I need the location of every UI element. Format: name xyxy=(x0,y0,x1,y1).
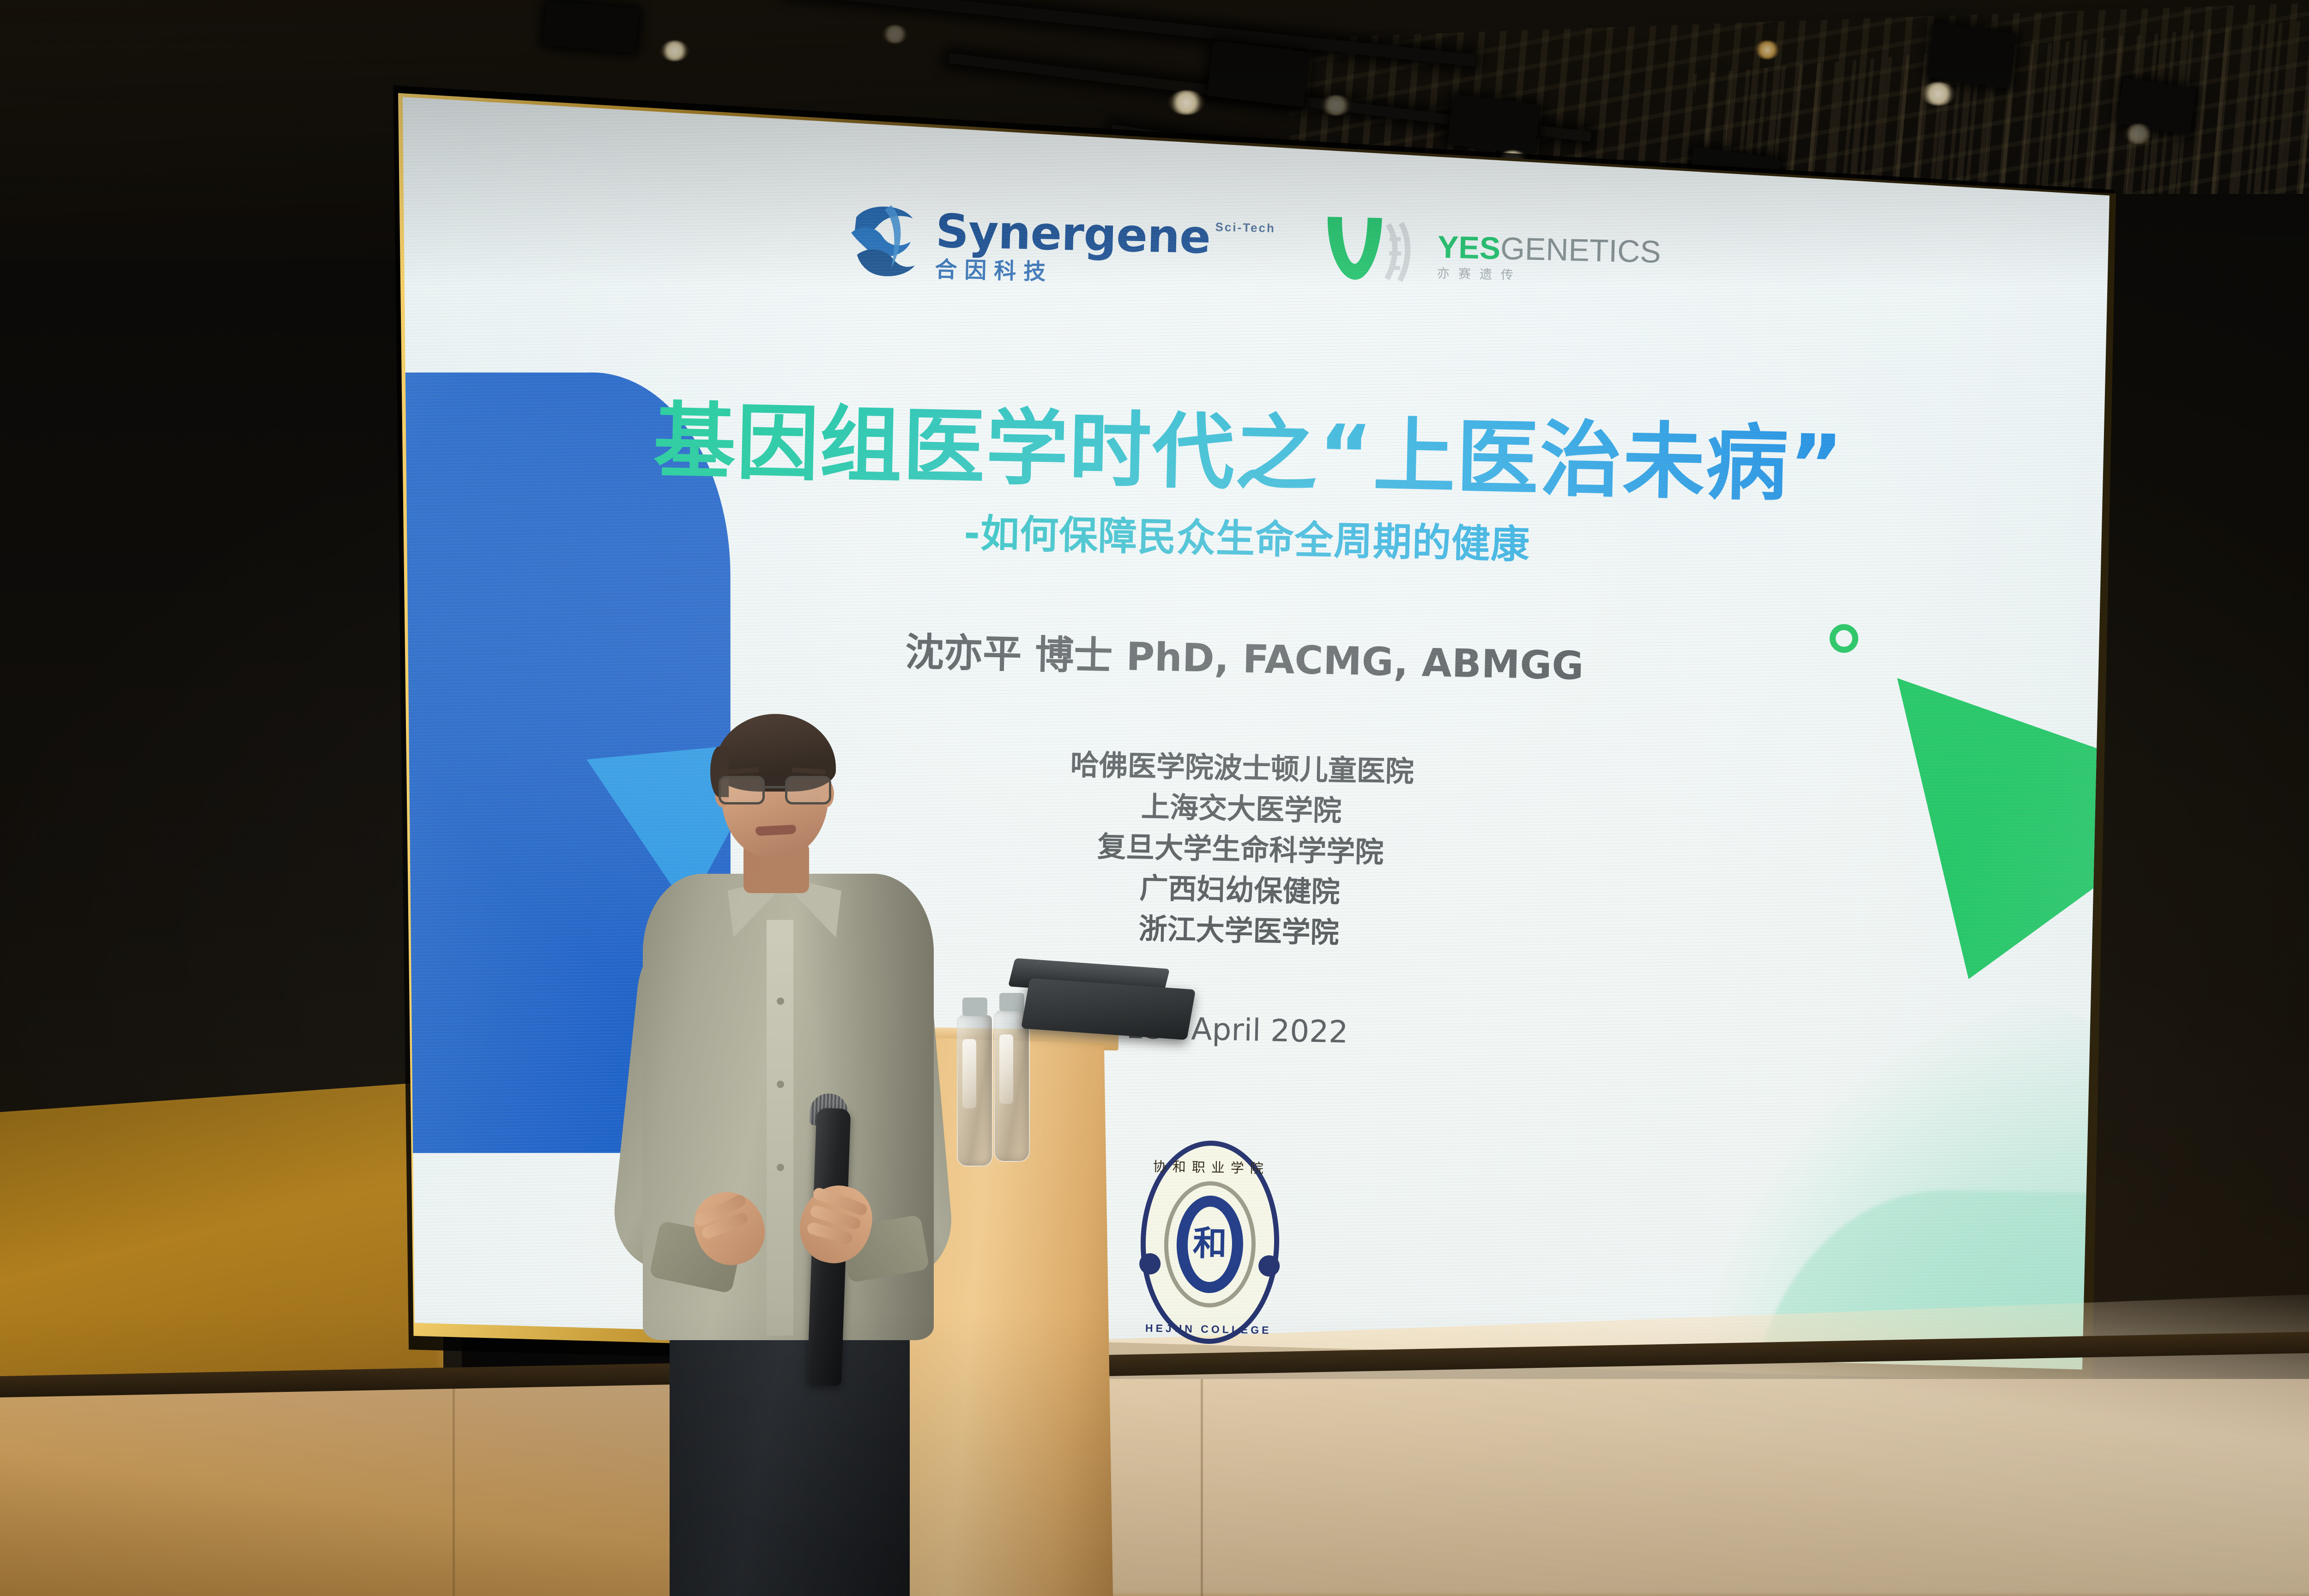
logo-yesgenetics: YESGENETICS 亦赛遗传 xyxy=(1318,210,1662,303)
speaker-shirt-placket xyxy=(767,920,793,1336)
ceiling-lamp xyxy=(1755,41,1780,59)
stage-light-fixture xyxy=(543,0,639,53)
eyeglasses-icon xyxy=(717,776,834,805)
speaker-trousers xyxy=(670,1321,910,1596)
ceiling-lamp xyxy=(2124,124,2152,144)
logo-synergene: Synergene Sci-Tech 合因科技 xyxy=(844,199,1276,295)
water-bottle xyxy=(994,1010,1030,1162)
emblem-side-medallion xyxy=(1258,1255,1280,1277)
logo-genetics-light: GENETICS xyxy=(1500,231,1661,270)
eyeglass-lens xyxy=(785,776,831,804)
emblem-center-character: 和 xyxy=(1140,1215,1280,1266)
logo-synergene-chinese: 合因科技 xyxy=(935,259,1275,288)
ceiling-lamp xyxy=(660,41,689,61)
logo-yesgenetics-chinese: 亦赛遗传 xyxy=(1437,267,1661,285)
green-helix-icon xyxy=(1318,210,1427,298)
logo-yes-bold: YES xyxy=(1437,230,1501,266)
ceiling-lamp xyxy=(1321,95,1351,115)
eyeglass-lens xyxy=(719,776,765,804)
logo-synergene-text: Synergene Sci-Tech 合因科技 xyxy=(935,208,1276,288)
logo-synergene-tagline: Sci-Tech xyxy=(1215,221,1275,234)
floor-seam xyxy=(453,1379,455,1596)
emblem-english-arc: HEJUN COLLEGE xyxy=(1139,1322,1277,1337)
shirt-button xyxy=(777,1164,784,1171)
stage-light-fixture xyxy=(1447,94,1541,155)
logo-yesgenetics-text: YESGENETICS 亦赛遗传 xyxy=(1437,231,1662,285)
ceiling-lamp xyxy=(1168,91,1204,115)
speaker xyxy=(614,711,965,1596)
wave-globe-icon xyxy=(844,199,925,287)
emblem-chinese-arc: 协和职业学院 xyxy=(1142,1156,1281,1178)
logo-synergene-name: Synergene xyxy=(935,208,1211,260)
ceiling-lamp xyxy=(882,25,908,43)
eyeglass-bridge xyxy=(765,786,786,788)
stage-light-fixture xyxy=(1927,22,2017,89)
stage-floor xyxy=(0,1379,2309,1596)
slide-logo-row: Synergene Sci-Tech 合因科技 xyxy=(403,190,2107,314)
shirt-button xyxy=(777,1081,784,1088)
podium-college-emblem: 协和职业学院 和 HEJUN COLLEGE xyxy=(1139,1139,1281,1345)
ceiling-lamp xyxy=(1921,82,1955,105)
date-rest: April 2022 xyxy=(1181,1011,1348,1050)
stage-light-fixture xyxy=(1207,41,1310,108)
floor-seam xyxy=(1201,1379,1203,1596)
conference-stage-photo: Synergene Sci-Tech 合因科技 xyxy=(0,0,2309,1596)
shirt-button xyxy=(777,997,784,1005)
